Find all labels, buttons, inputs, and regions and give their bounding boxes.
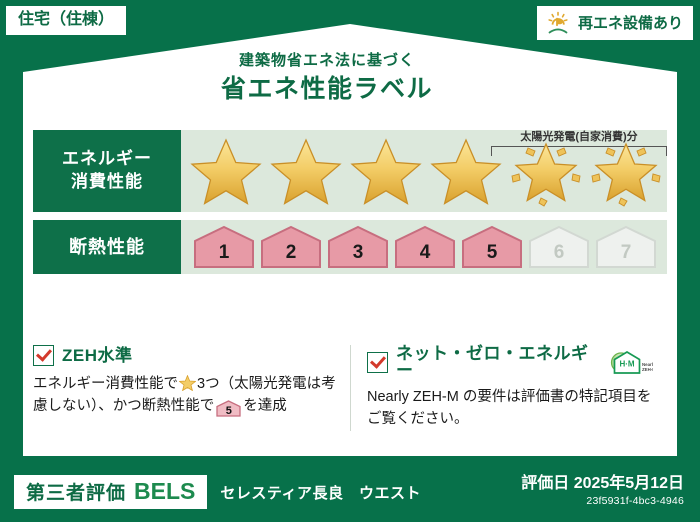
row-body-insulation-performance: 1 2 3 4 5 [181, 220, 667, 274]
property-name: セレスティア長良 ウエスト [220, 482, 421, 503]
note-title: ZEH水準 [62, 347, 133, 364]
star-icon [427, 134, 505, 208]
star-icon-inline [179, 375, 196, 391]
insulation-grade-value: 5 [487, 242, 498, 264]
note-header: ネット・ゼロ・エネルギー H·M Nearly ZEH-M [367, 345, 653, 379]
star-rating [181, 134, 665, 208]
checkmark-icon [367, 352, 388, 373]
page-title: 省エネ性能ラベル [0, 74, 654, 104]
evaluation-id: 23f5931f-4bc3-4946 [521, 494, 684, 509]
star-icon [347, 134, 425, 208]
row-label-insulation-performance: 断熱性能 [33, 220, 181, 274]
performance-rows: エネルギー 消費性能 太陽光発電(自家消費)分 [33, 130, 667, 282]
star-icon [267, 134, 345, 208]
insulation-grade-value: 4 [420, 242, 431, 264]
insulation-grade-badge: 5 [461, 225, 523, 269]
row-label-line2: 消費性能 [71, 171, 143, 194]
energy-performance-label: 住宅（住棟） 再エネ設備あり 建築物省エネ法に基づく 省エネ性 [0, 0, 700, 522]
insulation-grade-scale: 1 2 3 4 5 [181, 225, 657, 269]
insulation-grade-value: 3 [353, 242, 364, 264]
bels-jp-label: 第三者評価 [26, 484, 126, 503]
nearly-zeh-m-logo: H·M Nearly ZEH-M [607, 349, 653, 376]
evaluation-date: 評価日 2025年5月12日 [521, 475, 684, 493]
insulation-grade-badge-inactive: 6 [528, 225, 590, 269]
note-body: エネルギー消費性能で3つ（太陽光発電は考慮しない）、かつ断熱性能で5を達成 [33, 373, 336, 418]
insulation-grade-value: 6 [554, 242, 565, 264]
evaluation-info: 評価日 2025年5月12日 23f5931f-4bc3-4946 [521, 475, 684, 509]
note-zeh-standard: ZEH水準 エネルギー消費性能で3つ（太陽光発電は考慮しない）、かつ断熱性能で5… [33, 345, 350, 431]
bels-certification-badge: 第三者評価 BELS [14, 475, 207, 509]
note-text-part3: を達成 [243, 398, 287, 414]
housing-type-tag: 住宅（住棟） [6, 6, 126, 35]
insulation-grade-badge-inline: 5 [216, 400, 241, 417]
star-icon-solar [507, 134, 585, 208]
insulation-grade-badge-inactive: 7 [595, 225, 657, 269]
renewable-equipment-badge: 再エネ設備あり [537, 6, 693, 40]
footer: 第三者評価 BELS セレスティア長良 ウエスト 評価日 2025年5月12日 … [0, 462, 700, 522]
svg-text:H·M: H·M [619, 359, 634, 368]
star-icon [187, 134, 265, 208]
insulation-grade-badge: 2 [260, 225, 322, 269]
bels-en-label: BELS [134, 480, 195, 503]
note-net-zero-energy: ネット・ゼロ・エネルギー H·M Nearly ZEH-M Nearly ZEH… [350, 345, 667, 431]
row-energy-consumption: エネルギー 消費性能 太陽光発電(自家消費)分 [33, 130, 667, 212]
insulation-grade-value: 5 [226, 405, 232, 417]
row-insulation-performance: 断熱性能 1 2 3 [33, 220, 667, 274]
row-label-energy-consumption: エネルギー 消費性能 [33, 130, 181, 212]
solar-sun-icon [545, 11, 571, 35]
insulation-grade-value: 2 [286, 242, 297, 264]
checkmark-icon [33, 345, 54, 366]
renewable-badge-label: 再エネ設備あり [578, 16, 683, 31]
insulation-grade-badge: 3 [327, 225, 389, 269]
note-header: ZEH水準 [33, 345, 336, 366]
svg-text:ZEH-M: ZEH-M [642, 367, 653, 372]
star-icon-solar [587, 134, 665, 208]
row-label-line1: エネルギー [62, 148, 152, 171]
insulation-grade-value: 7 [621, 242, 632, 264]
note-body: Nearly ZEH-M の要件は評価書の特記項目をご覧ください。 [367, 386, 653, 431]
insulation-grade-value: 1 [219, 242, 230, 264]
row-body-energy-consumption: 太陽光発電(自家消費)分 [181, 130, 667, 212]
note-title: ネット・ゼロ・エネルギー [396, 345, 599, 379]
insulation-grade-badge: 1 [193, 225, 255, 269]
notes-section: ZEH水準 エネルギー消費性能で3つ（太陽光発電は考慮しない）、かつ断熱性能で5… [33, 345, 667, 431]
note-text-part1: エネルギー消費性能で [33, 376, 178, 392]
label-title-block: 建築物省エネ法に基づく 省エネ性能ラベル [0, 52, 654, 104]
label-subtitle: 建築物省エネ法に基づく [0, 52, 654, 70]
insulation-grade-badge: 4 [394, 225, 456, 269]
